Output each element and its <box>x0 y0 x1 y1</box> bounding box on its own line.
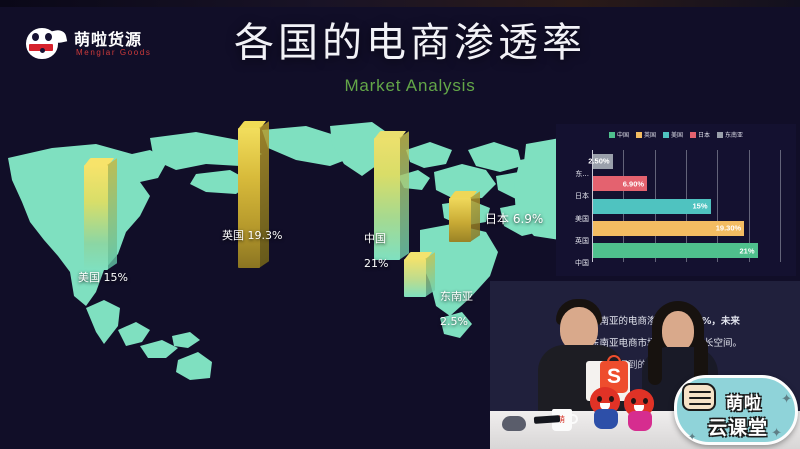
map-label-china-line1: 中国 <box>364 232 386 245</box>
chart-tick-label-0: 东... <box>575 169 589 179</box>
title-chinese: 各国的电商渗透率 <box>210 18 610 68</box>
legend-label: 英国 <box>644 130 656 139</box>
mouse-prop <box>502 416 526 431</box>
course-badge[interactable]: 萌啦 云课堂 ✦ ✦ ✦ <box>674 375 798 445</box>
map-label-china: 中国 21% <box>364 220 388 271</box>
legend-item-2[interactable]: 美国 <box>663 130 683 139</box>
map-label-china-line2: 21% <box>364 257 388 270</box>
map-label-seasia: 东南亚 2.5% <box>440 278 473 329</box>
legend-swatch-icon <box>717 132 723 138</box>
badge-line-2: 云课堂 <box>708 413 768 440</box>
chart-tick-label-1: 日本 <box>575 191 589 201</box>
brand-name-en: Menglar Goods <box>76 48 152 57</box>
legend-label: 日本 <box>698 130 710 139</box>
chart-bar-中国[interactable]: 21%中国 <box>593 243 758 258</box>
legend-label: 中国 <box>617 130 629 139</box>
chart-bar-美国[interactable]: 15%美国 <box>593 199 711 214</box>
chart-bar-东南亚[interactable]: 2.50%东... <box>593 154 613 169</box>
page-title: 各国的电商渗透率 Market Analysis <box>210 18 610 96</box>
badge-line-1: 萌啦 <box>726 389 762 414</box>
sparkle-icon-2: ✦ <box>771 425 782 441</box>
map-label-japan: 日本 6.9% <box>485 213 543 227</box>
chart-bar-value: 2.50% <box>588 157 609 166</box>
presentation-slide: 萌啦货源 Menglar Goods 各国的电商渗透率 Market Analy… <box>0 0 800 449</box>
map-label-usa: 美国 15% <box>78 272 128 285</box>
chart-bar-value: 6.90% <box>623 179 644 188</box>
legend-item-3[interactable]: 日本 <box>690 130 710 139</box>
brand-logo[interactable]: 萌啦货源 Menglar Goods <box>24 22 184 66</box>
fist-icon <box>682 383 716 411</box>
bar-chart-panel: 中国英国美国日本东南亚 2.50%东...6.90%日本15%美国19.30%英… <box>556 124 796 276</box>
legend-item-0[interactable]: 中国 <box>609 130 629 139</box>
legend-label: 美国 <box>671 130 683 139</box>
legend-swatch-icon <box>690 132 696 138</box>
world-map: 美国 15% 英国 19.3% 中国 21% 日本 6.9% <box>0 120 560 380</box>
map-label-seasia-line2: 2.5% <box>440 315 468 328</box>
brand-name-cn: 萌啦货源 <box>74 26 142 50</box>
legend-swatch-icon <box>636 132 642 138</box>
legend-swatch-icon <box>663 132 669 138</box>
chart-bar-value: 15% <box>692 202 707 211</box>
presenter-video-overlay[interactable]: 东南亚的电商渗透率为2.5%，未来 东南亚电商市场有很大的增长空间。 人多会用到… <box>490 281 800 449</box>
sparkle-icon-3: ✦ <box>688 432 696 443</box>
chart-tick-label-2: 美国 <box>575 214 589 224</box>
chart-tick-label-3: 英国 <box>575 236 589 246</box>
map-bar-uk <box>238 128 260 268</box>
chart-tick-label-4: 中国 <box>575 258 589 268</box>
chart-bar-value: 21% <box>739 246 754 255</box>
map-label-uk: 英国 19.3% <box>222 230 282 243</box>
chart-bar-value: 19.30% <box>716 224 741 233</box>
menglar-smiley-logo-icon <box>24 24 66 62</box>
legend-item-1[interactable]: 英国 <box>636 130 656 139</box>
legend-label: 东南亚 <box>725 130 743 139</box>
top-strip <box>0 0 800 7</box>
chart-bar-英国[interactable]: 19.30%英国 <box>593 221 744 236</box>
chart-plot-area: 2.50%东...6.90%日本15%美国19.30%英国21%中国 <box>592 150 780 262</box>
map-label-seasia-line1: 东南亚 <box>440 290 473 303</box>
map-bar-usa <box>84 165 108 270</box>
map-bar-japan <box>449 198 471 242</box>
mascot-left <box>590 387 622 433</box>
legend-swatch-icon <box>609 132 615 138</box>
sparkle-icon-1: ✦ <box>781 391 792 407</box>
legend-item-4[interactable]: 东南亚 <box>717 130 743 139</box>
mascot-right <box>624 389 656 433</box>
chart-bar-fill <box>593 243 758 258</box>
chart-legend: 中国英国美国日本东南亚 <box>556 130 796 139</box>
chart-gridline-5 <box>780 150 781 262</box>
chart-bar-日本[interactable]: 6.90%日本 <box>593 176 647 191</box>
title-english: Market Analysis <box>210 76 610 96</box>
map-bar-seasia <box>404 259 426 297</box>
